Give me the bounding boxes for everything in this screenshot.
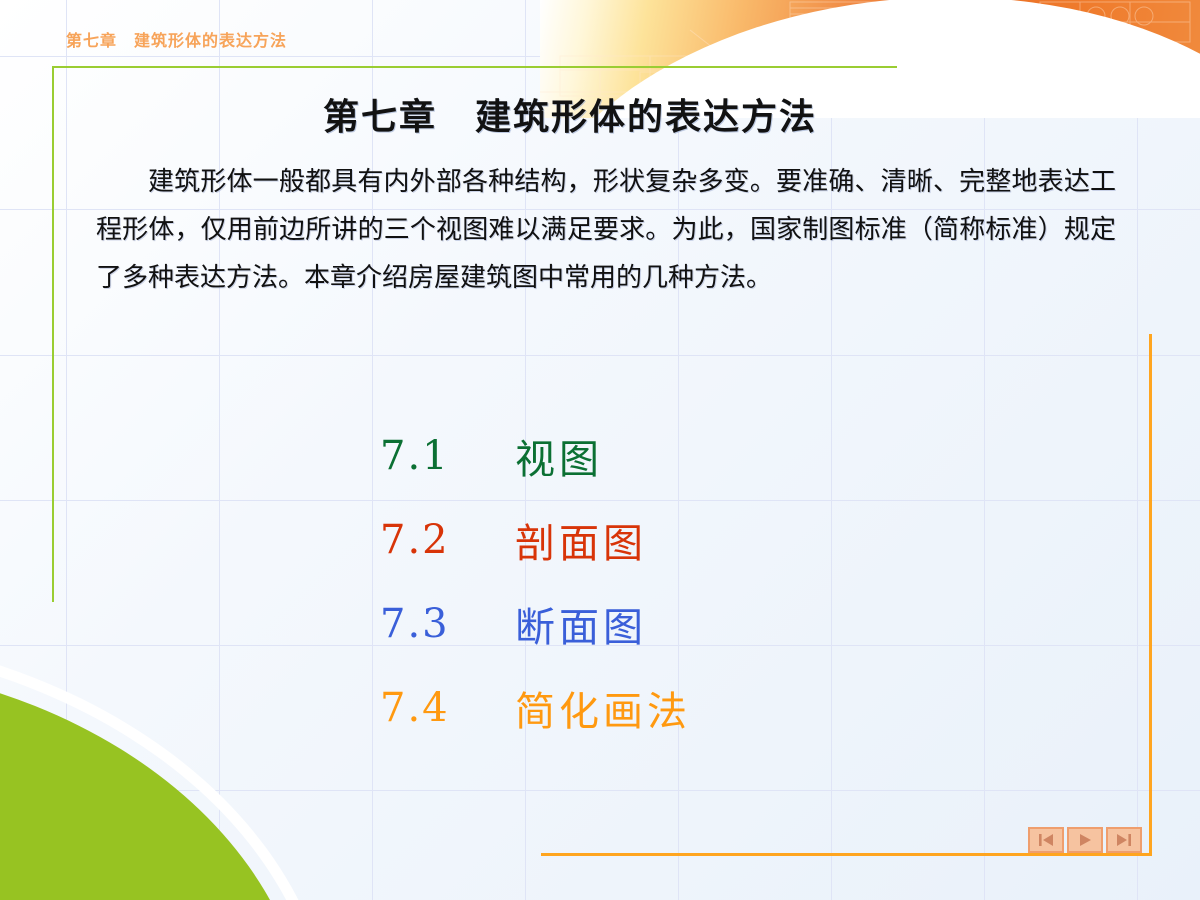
section-number: 7.3	[380, 601, 515, 647]
list-item[interactable]: 7.4 简化画法	[380, 666, 1080, 750]
slide-navigation-bar	[1028, 827, 1142, 853]
chapter-header-label: 第七章 建筑形体的表达方法	[66, 27, 287, 51]
section-number: 7.2	[380, 517, 515, 563]
play-icon	[1075, 833, 1095, 847]
page-title: 第七章 建筑形体的表达方法	[0, 88, 1140, 140]
section-label: 视图	[515, 427, 603, 485]
section-label: 简化画法	[515, 679, 691, 737]
last-slide-button[interactable]	[1106, 827, 1142, 853]
first-slide-button[interactable]	[1028, 827, 1064, 853]
green-rule-top	[52, 66, 897, 68]
skip-back-icon	[1036, 833, 1056, 847]
play-next-button[interactable]	[1067, 827, 1103, 853]
section-list: 7.1 视图 7.2 剖面图 7.3 断面图 7.4 简化画法	[380, 414, 1080, 750]
list-item[interactable]: 7.2 剖面图	[380, 498, 1080, 582]
skip-forward-icon	[1114, 833, 1134, 847]
list-item[interactable]: 7.1 视图	[380, 414, 1080, 498]
section-number: 7.4	[380, 685, 515, 731]
section-number: 7.1	[380, 433, 515, 479]
slide-canvas: 第七章 建筑形体的表达方法 第七章 建筑形体的表达方法 建筑形体一般都具有内外部…	[0, 0, 1200, 900]
orange-rule-bottom	[541, 853, 1152, 856]
grid-line-horizontal	[0, 355, 1200, 356]
list-item[interactable]: 7.3 断面图	[380, 582, 1080, 666]
orange-rule-right	[1149, 334, 1152, 855]
intro-paragraph: 建筑形体一般都具有内外部各种结构，形状复杂多变。要准确、清晰、完整地表达工程形体…	[96, 158, 1116, 302]
green-rule-left	[52, 66, 54, 602]
section-label: 剖面图	[515, 511, 647, 569]
section-label: 断面图	[515, 595, 647, 653]
